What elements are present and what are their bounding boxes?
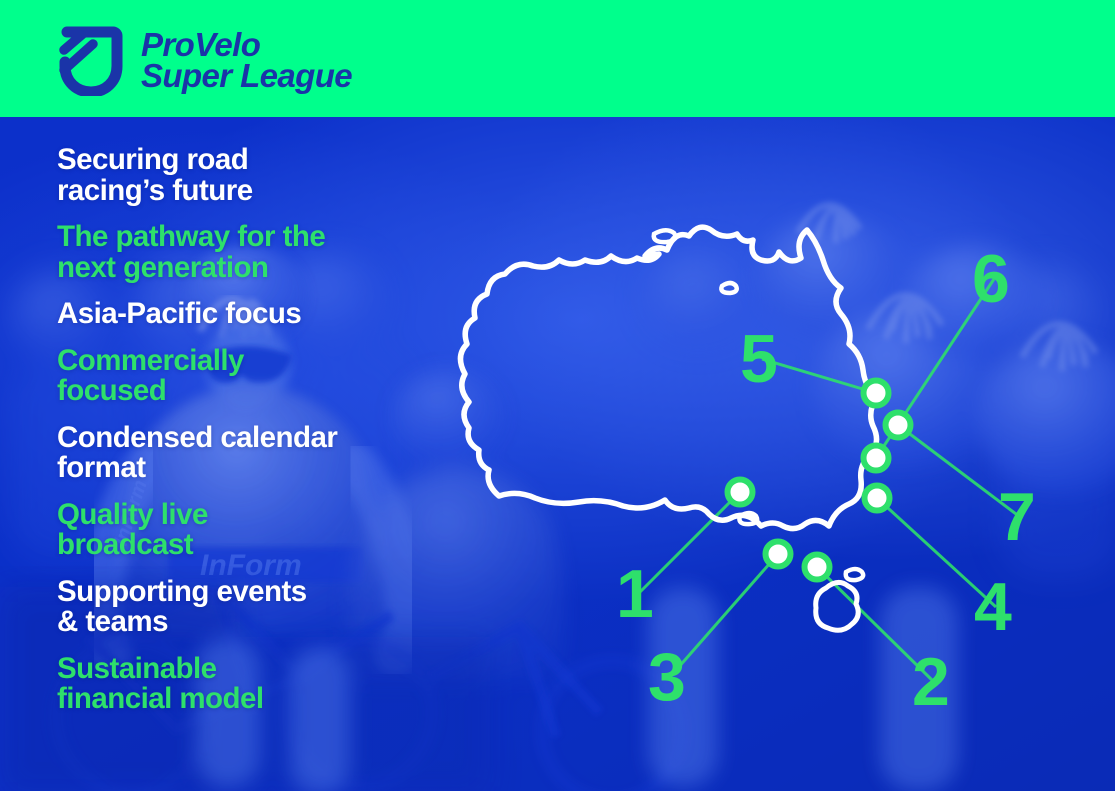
logo-lockup[interactable]: ProVelo Super League bbox=[55, 26, 352, 96]
map-number-5: 5 bbox=[740, 325, 777, 393]
brand-header-band: ProVelo Super League bbox=[0, 0, 1115, 117]
key-point-1: Securing road racing’s future bbox=[57, 145, 457, 206]
key-point-8: Sustainable financial model bbox=[57, 654, 457, 715]
map-number-1: 1 bbox=[616, 560, 653, 628]
key-point-2: The pathway for the next generation bbox=[57, 222, 457, 283]
map-number-6: 6 bbox=[972, 245, 1009, 313]
key-point-5: Condensed calendar format bbox=[57, 423, 457, 484]
logo-wordmark: ProVelo Super League bbox=[141, 30, 352, 91]
key-point-6: Quality live broadcast bbox=[57, 500, 457, 561]
map-number-7: 7 bbox=[998, 483, 1035, 551]
key-point-7: Supporting events & teams bbox=[57, 577, 457, 638]
key-point-4: Commercially focused bbox=[57, 346, 457, 407]
map-number-3: 3 bbox=[648, 643, 685, 711]
map-number-4: 4 bbox=[974, 573, 1011, 641]
wordmark-line-2: Super League bbox=[141, 61, 352, 92]
presentation-slide: InForm InForm bbox=[0, 0, 1115, 791]
key-point-3: Asia-Pacific focus bbox=[57, 299, 457, 330]
key-points-list: Securing road racing’s futureThe pathway… bbox=[57, 145, 457, 731]
provelo-shield-logo-icon bbox=[55, 26, 127, 96]
map-number-2: 2 bbox=[912, 648, 949, 716]
